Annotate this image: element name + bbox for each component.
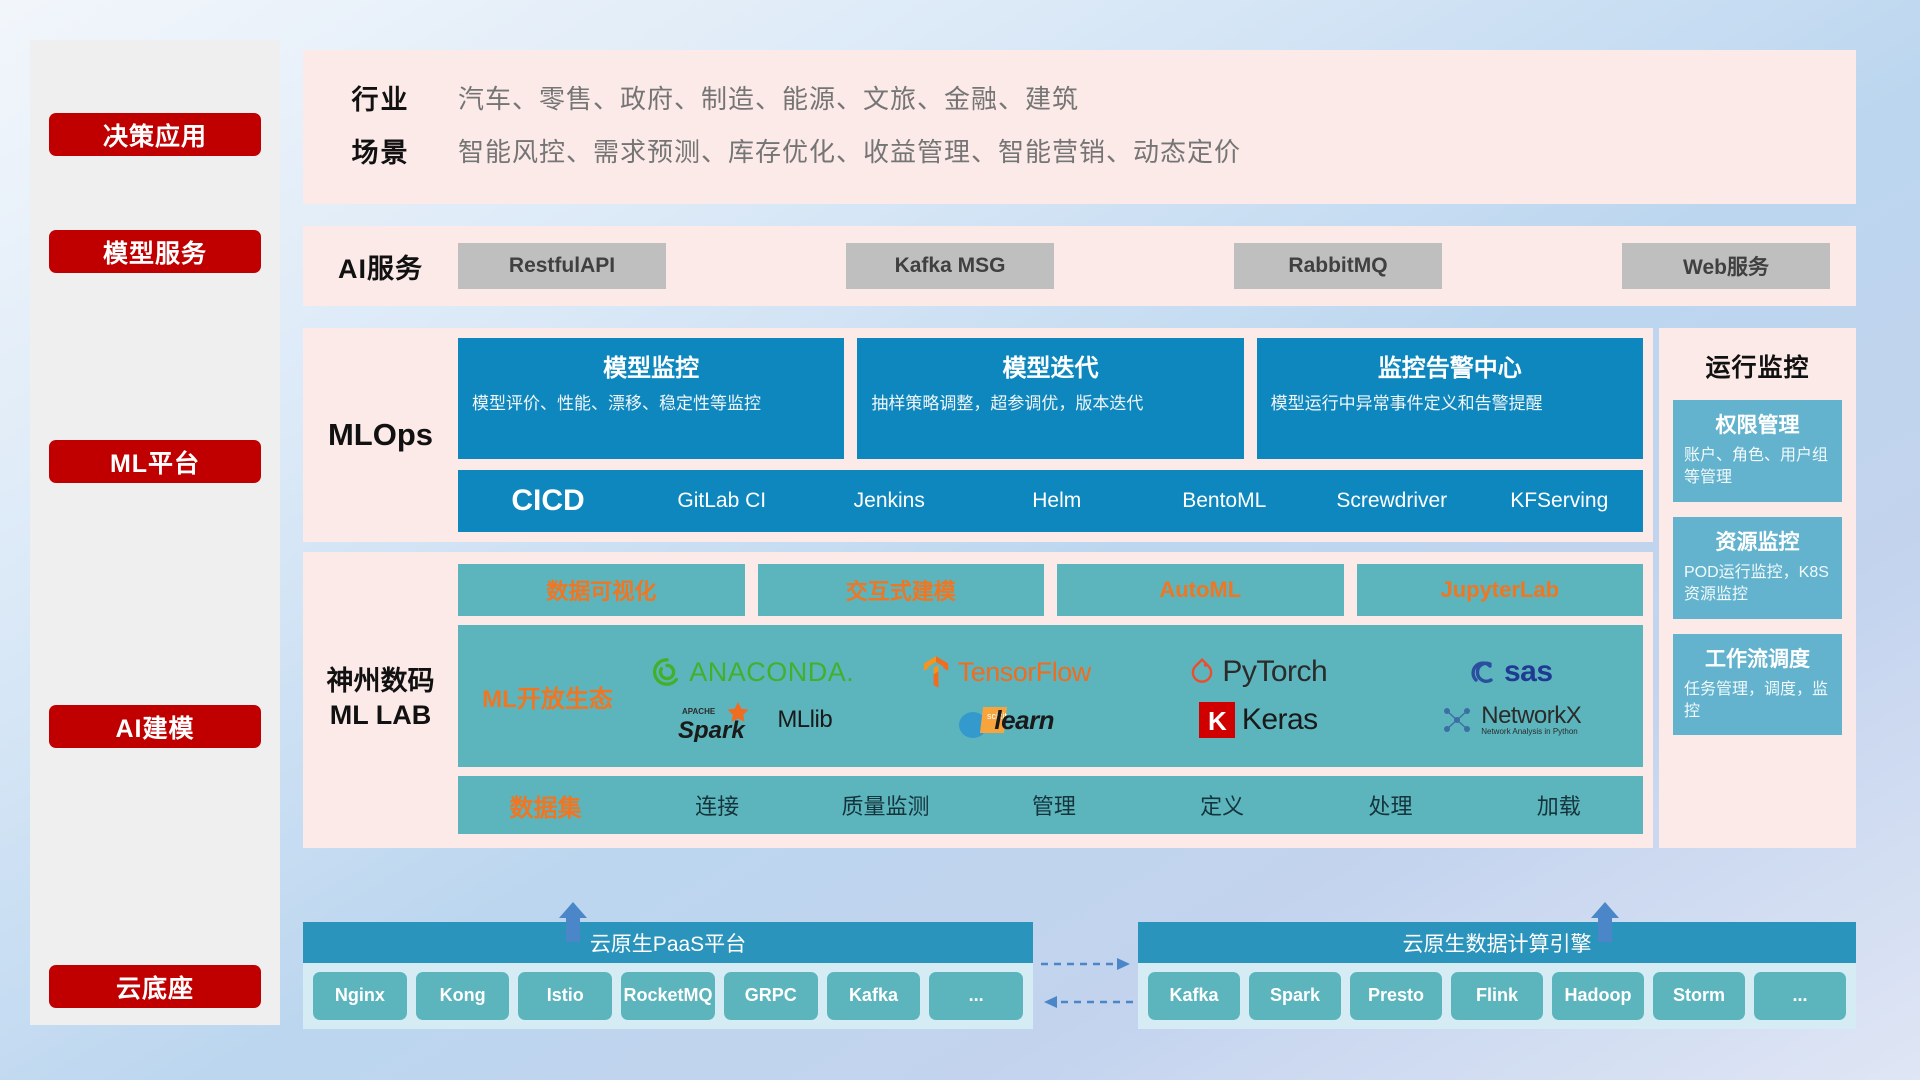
ml-open-ecosystem: ML开放生态 ANACONDA. bbox=[458, 625, 1643, 767]
dataset-item[interactable]: 加载 bbox=[1475, 789, 1643, 821]
scenario-row: 场景 智能风控、需求预测、库存优化、收益管理、智能营销、动态定价 bbox=[303, 131, 1856, 170]
cloud-chip[interactable]: Kafka bbox=[827, 972, 921, 1020]
rail-item-ml-platform[interactable]: ML平台 bbox=[49, 440, 261, 483]
ml-lab-label: 神州数码 ML LAB bbox=[303, 564, 458, 834]
runtime-monitoring-column: 运行监控 权限管理 账户、角色、用户组等管理 资源监控 POD运行监控，K8S资… bbox=[1659, 328, 1856, 848]
mlops-card-alert-center[interactable]: 监控告警中心 模型运行中异常事件定义和告警提醒 bbox=[1257, 338, 1643, 459]
cloud-chip[interactable]: RocketMQ bbox=[621, 972, 715, 1020]
architecture-diagram: 行业 汽车、零售、政府、制造、能源、文旅、金融、建筑 场景 智能风控、需求预测、… bbox=[303, 50, 1856, 848]
arrow-left-head-icon bbox=[1044, 996, 1057, 1008]
ecosystem-logo-grid: ANACONDA. TensorFlow bbox=[629, 649, 1635, 743]
cicd-item[interactable]: KFServing bbox=[1476, 490, 1644, 512]
ai-service-chip[interactable]: RabbitMQ bbox=[1234, 243, 1442, 289]
card-description: 模型评价、性能、漂移、稳定性等监控 bbox=[472, 392, 830, 417]
dataset-item[interactable]: 管理 bbox=[970, 789, 1138, 821]
cicd-bar: CICD GitLab CI Jenkins Helm BentoML Scre… bbox=[458, 470, 1643, 532]
industry-label: 行业 bbox=[303, 78, 458, 117]
mlops-card-model-monitoring[interactable]: 模型监控 模型评价、性能、漂移、稳定性等监控 bbox=[458, 338, 844, 459]
tab-data-visualization[interactable]: 数据可视化 bbox=[458, 564, 745, 616]
mlops-band: MLOps 模型监控 模型评价、性能、漂移、稳定性等监控 模型迭代 抽样策略调整… bbox=[303, 328, 1653, 542]
dataset-item[interactable]: 处理 bbox=[1306, 789, 1474, 821]
bidirectional-link-arrows bbox=[1039, 950, 1135, 1020]
cloud-chip[interactable]: Flink bbox=[1451, 972, 1543, 1020]
cloud-data-engine-chip-list: Kafka Spark Presto Flink Hadoop Storm ..… bbox=[1138, 963, 1856, 1029]
dataset-bar: 数据集 连接 质量监测 管理 定义 处理 加载 bbox=[458, 776, 1643, 834]
anaconda-logo: ANACONDA. bbox=[652, 657, 854, 688]
card-title: 监控告警中心 bbox=[1271, 348, 1629, 383]
rail-item-label: 模型服务 bbox=[103, 234, 207, 270]
tensorflow-mark-icon bbox=[921, 655, 951, 689]
scenario-values: 智能风控、需求预测、库存优化、收益管理、智能营销、动态定价 bbox=[458, 132, 1241, 169]
rail-item-label: 决策应用 bbox=[103, 117, 207, 153]
rail-item-label: AI建模 bbox=[115, 709, 194, 745]
cloud-chip[interactable]: Hadoop bbox=[1552, 972, 1644, 1020]
ai-service-chip[interactable]: Web服务 bbox=[1622, 243, 1830, 289]
card-title: 工作流调度 bbox=[1684, 643, 1831, 673]
ecosystem-label: ML开放生态 bbox=[466, 679, 629, 714]
learn-wordmark: learn bbox=[994, 705, 1054, 736]
cicd-title: CICD bbox=[458, 484, 638, 518]
cloud-chip-more[interactable]: ... bbox=[1754, 972, 1846, 1020]
svg-text:APACHE: APACHE bbox=[682, 707, 716, 716]
card-description: 抽样策略调整，超参调优，版本迭代 bbox=[871, 392, 1229, 417]
band-divider bbox=[303, 542, 1653, 552]
cloud-chip[interactable]: Nginx bbox=[313, 972, 407, 1020]
runtime-monitoring-title: 运行监控 bbox=[1673, 348, 1842, 384]
networkx-wordmark: NetworkX bbox=[1481, 704, 1581, 728]
industry-values: 汽车、零售、政府、制造、能源、文旅、金融、建筑 bbox=[458, 79, 1079, 116]
cicd-item-list: GitLab CI Jenkins Helm BentoML Screwdriv… bbox=[638, 490, 1643, 512]
card-description: 模型运行中异常事件定义和告警提醒 bbox=[1271, 392, 1629, 417]
cloud-paas-title: 云原生PaaS平台 bbox=[303, 922, 1033, 963]
spark-mark-icon: APACHE Spark bbox=[674, 698, 770, 742]
sas-mark-icon bbox=[1469, 658, 1497, 686]
anaconda-wordmark: ANACONDA. bbox=[689, 657, 854, 688]
cloud-foundation-band: 云原生PaaS平台 Nginx Kong Istio RocketMQ GRPC… bbox=[303, 900, 1856, 1050]
svg-text:K: K bbox=[1208, 706, 1227, 736]
rail-item-model-services[interactable]: 模型服务 bbox=[49, 230, 261, 273]
band-divider bbox=[303, 306, 1856, 328]
dataset-item[interactable]: 质量监测 bbox=[801, 789, 969, 821]
tab-interactive-modeling[interactable]: 交互式建模 bbox=[758, 564, 1045, 616]
cloud-data-engine-title: 云原生数据计算引擎 bbox=[1138, 922, 1856, 963]
card-title: 权限管理 bbox=[1684, 409, 1831, 439]
card-description: POD运行监控，K8S资源监控 bbox=[1684, 562, 1831, 607]
card-description: 任务管理，调度，监控 bbox=[1684, 679, 1831, 724]
dataset-item[interactable]: 定义 bbox=[1138, 789, 1306, 821]
card-title: 资源监控 bbox=[1684, 526, 1831, 556]
dataset-item[interactable]: 连接 bbox=[633, 789, 801, 821]
svg-text:Spark: Spark bbox=[678, 717, 746, 742]
card-title: 模型迭代 bbox=[871, 348, 1229, 383]
cloud-data-engine-group: 云原生数据计算引擎 Kafka Spark Presto Flink Hadoo… bbox=[1138, 922, 1856, 1029]
ai-services-chip-list: RestfulAPI Kafka MSG RabbitMQ Web服务 bbox=[458, 243, 1856, 289]
mllib-wordmark: MLlib bbox=[777, 706, 832, 734]
up-arrow-icon bbox=[556, 902, 590, 942]
dataset-item-list: 连接 质量监测 管理 定义 处理 加载 bbox=[633, 789, 1643, 821]
scikit-learn-logo: scikit learn bbox=[957, 697, 1054, 743]
ai-services-label: AI服务 bbox=[303, 247, 458, 286]
anaconda-mark-icon bbox=[652, 657, 682, 687]
cicd-item[interactable]: Jenkins bbox=[806, 490, 974, 512]
tab-jupyterlab[interactable]: JupyterLab bbox=[1357, 564, 1644, 616]
pytorch-logo: PyTorch bbox=[1189, 655, 1327, 689]
ai-services-band: AI服务 RestfulAPI Kafka MSG RabbitMQ Web服务 bbox=[303, 226, 1856, 306]
cloud-chip[interactable]: Kong bbox=[416, 972, 510, 1020]
cloud-chip[interactable]: Presto bbox=[1350, 972, 1442, 1020]
dataset-title: 数据集 bbox=[458, 788, 633, 823]
monitor-card-resources[interactable]: 资源监控 POD运行监控，K8S资源监控 bbox=[1673, 517, 1842, 619]
band-divider bbox=[303, 204, 1856, 226]
pytorch-wordmark: PyTorch bbox=[1222, 655, 1327, 689]
rail-item-cloud-foundation[interactable]: 云底座 bbox=[49, 965, 261, 1008]
monitor-card-workflow[interactable]: 工作流调度 任务管理，调度，监控 bbox=[1673, 634, 1842, 736]
ai-service-chip[interactable]: RestfulAPI bbox=[458, 243, 666, 289]
card-title: 模型监控 bbox=[472, 348, 830, 383]
ml-lab-band: 神州数码 ML LAB 数据可视化 交互式建模 AutoML JupyterLa… bbox=[303, 552, 1653, 848]
cloud-chip[interactable]: Istio bbox=[518, 972, 612, 1020]
cloud-paas-group: 云原生PaaS平台 Nginx Kong Istio RocketMQ GRPC… bbox=[303, 922, 1033, 1029]
platform-row: MLOps 模型监控 模型评价、性能、漂移、稳定性等监控 模型迭代 抽样策略调整… bbox=[303, 328, 1856, 848]
cloud-chip[interactable]: GRPC bbox=[724, 972, 818, 1020]
mlops-label: MLOps bbox=[303, 338, 458, 532]
cloud-chip[interactable]: Spark bbox=[1249, 972, 1341, 1020]
scenario-label: 场景 bbox=[303, 131, 458, 170]
cicd-item[interactable]: Screwdriver bbox=[1308, 490, 1476, 512]
ml-lab-label-line2: ML LAB bbox=[330, 699, 432, 733]
rail-item-ai-modeling[interactable]: AI建模 bbox=[49, 705, 261, 748]
rail-item-label: ML平台 bbox=[110, 444, 200, 480]
mlops-card-list: 模型监控 模型评价、性能、漂移、稳定性等监控 模型迭代 抽样策略调整，超参调优，… bbox=[458, 338, 1643, 459]
monitor-card-permissions[interactable]: 权限管理 账户、角色、用户组等管理 bbox=[1673, 400, 1842, 502]
networkx-tagline: Network Analysis in Python bbox=[1481, 728, 1581, 736]
rail-item-label: 云底座 bbox=[116, 969, 194, 1005]
keras-logo: K Keras bbox=[1199, 702, 1318, 738]
rail-item-decision-apps[interactable]: 决策应用 bbox=[49, 113, 261, 156]
cloud-chip[interactable]: Kafka bbox=[1148, 972, 1240, 1020]
ml-lab-label-line1: 神州数码 bbox=[327, 665, 435, 699]
keras-wordmark: Keras bbox=[1242, 703, 1318, 737]
cloud-chip[interactable]: Storm bbox=[1653, 972, 1745, 1020]
up-arrow-icon bbox=[1588, 902, 1622, 942]
tensorflow-logo: TensorFlow bbox=[921, 655, 1091, 689]
sas-logo: sas bbox=[1469, 655, 1553, 689]
card-description: 账户、角色、用户组等管理 bbox=[1684, 445, 1831, 490]
cloud-chip-more[interactable]: ... bbox=[929, 972, 1023, 1020]
arrow-right-head-icon bbox=[1117, 958, 1130, 970]
ai-service-chip[interactable]: Kafka MSG bbox=[846, 243, 1054, 289]
cloud-paas-chip-list: Nginx Kong Istio RocketMQ GRPC Kafka ... bbox=[303, 963, 1033, 1029]
keras-mark-icon: K bbox=[1199, 702, 1235, 738]
networkx-graph-icon bbox=[1440, 703, 1474, 737]
networkx-logo: NetworkX Network Analysis in Python bbox=[1440, 703, 1581, 737]
cicd-item[interactable]: GitLab CI bbox=[638, 490, 806, 512]
tab-automl[interactable]: AutoML bbox=[1057, 564, 1344, 616]
cicd-item[interactable]: Helm bbox=[973, 490, 1141, 512]
tensorflow-wordmark: TensorFlow bbox=[958, 657, 1091, 688]
cicd-item[interactable]: BentoML bbox=[1141, 490, 1309, 512]
layer-rail: 决策应用 模型服务 ML平台 AI建模 云底座 bbox=[30, 40, 280, 1025]
industry-row: 行业 汽车、零售、政府、制造、能源、文旅、金融、建筑 bbox=[303, 78, 1856, 117]
decision-applications-band: 行业 汽车、零售、政府、制造、能源、文旅、金融、建筑 场景 智能风控、需求预测、… bbox=[303, 50, 1856, 204]
spark-mllib-logo: APACHE Spark MLlib bbox=[674, 698, 832, 742]
sas-wordmark: sas bbox=[1504, 655, 1553, 689]
ml-lab-tab-list: 数据可视化 交互式建模 AutoML JupyterLab bbox=[458, 564, 1643, 616]
pytorch-flame-icon bbox=[1189, 657, 1215, 687]
mlops-card-model-iteration[interactable]: 模型迭代 抽样策略调整，超参调优，版本迭代 bbox=[857, 338, 1243, 459]
